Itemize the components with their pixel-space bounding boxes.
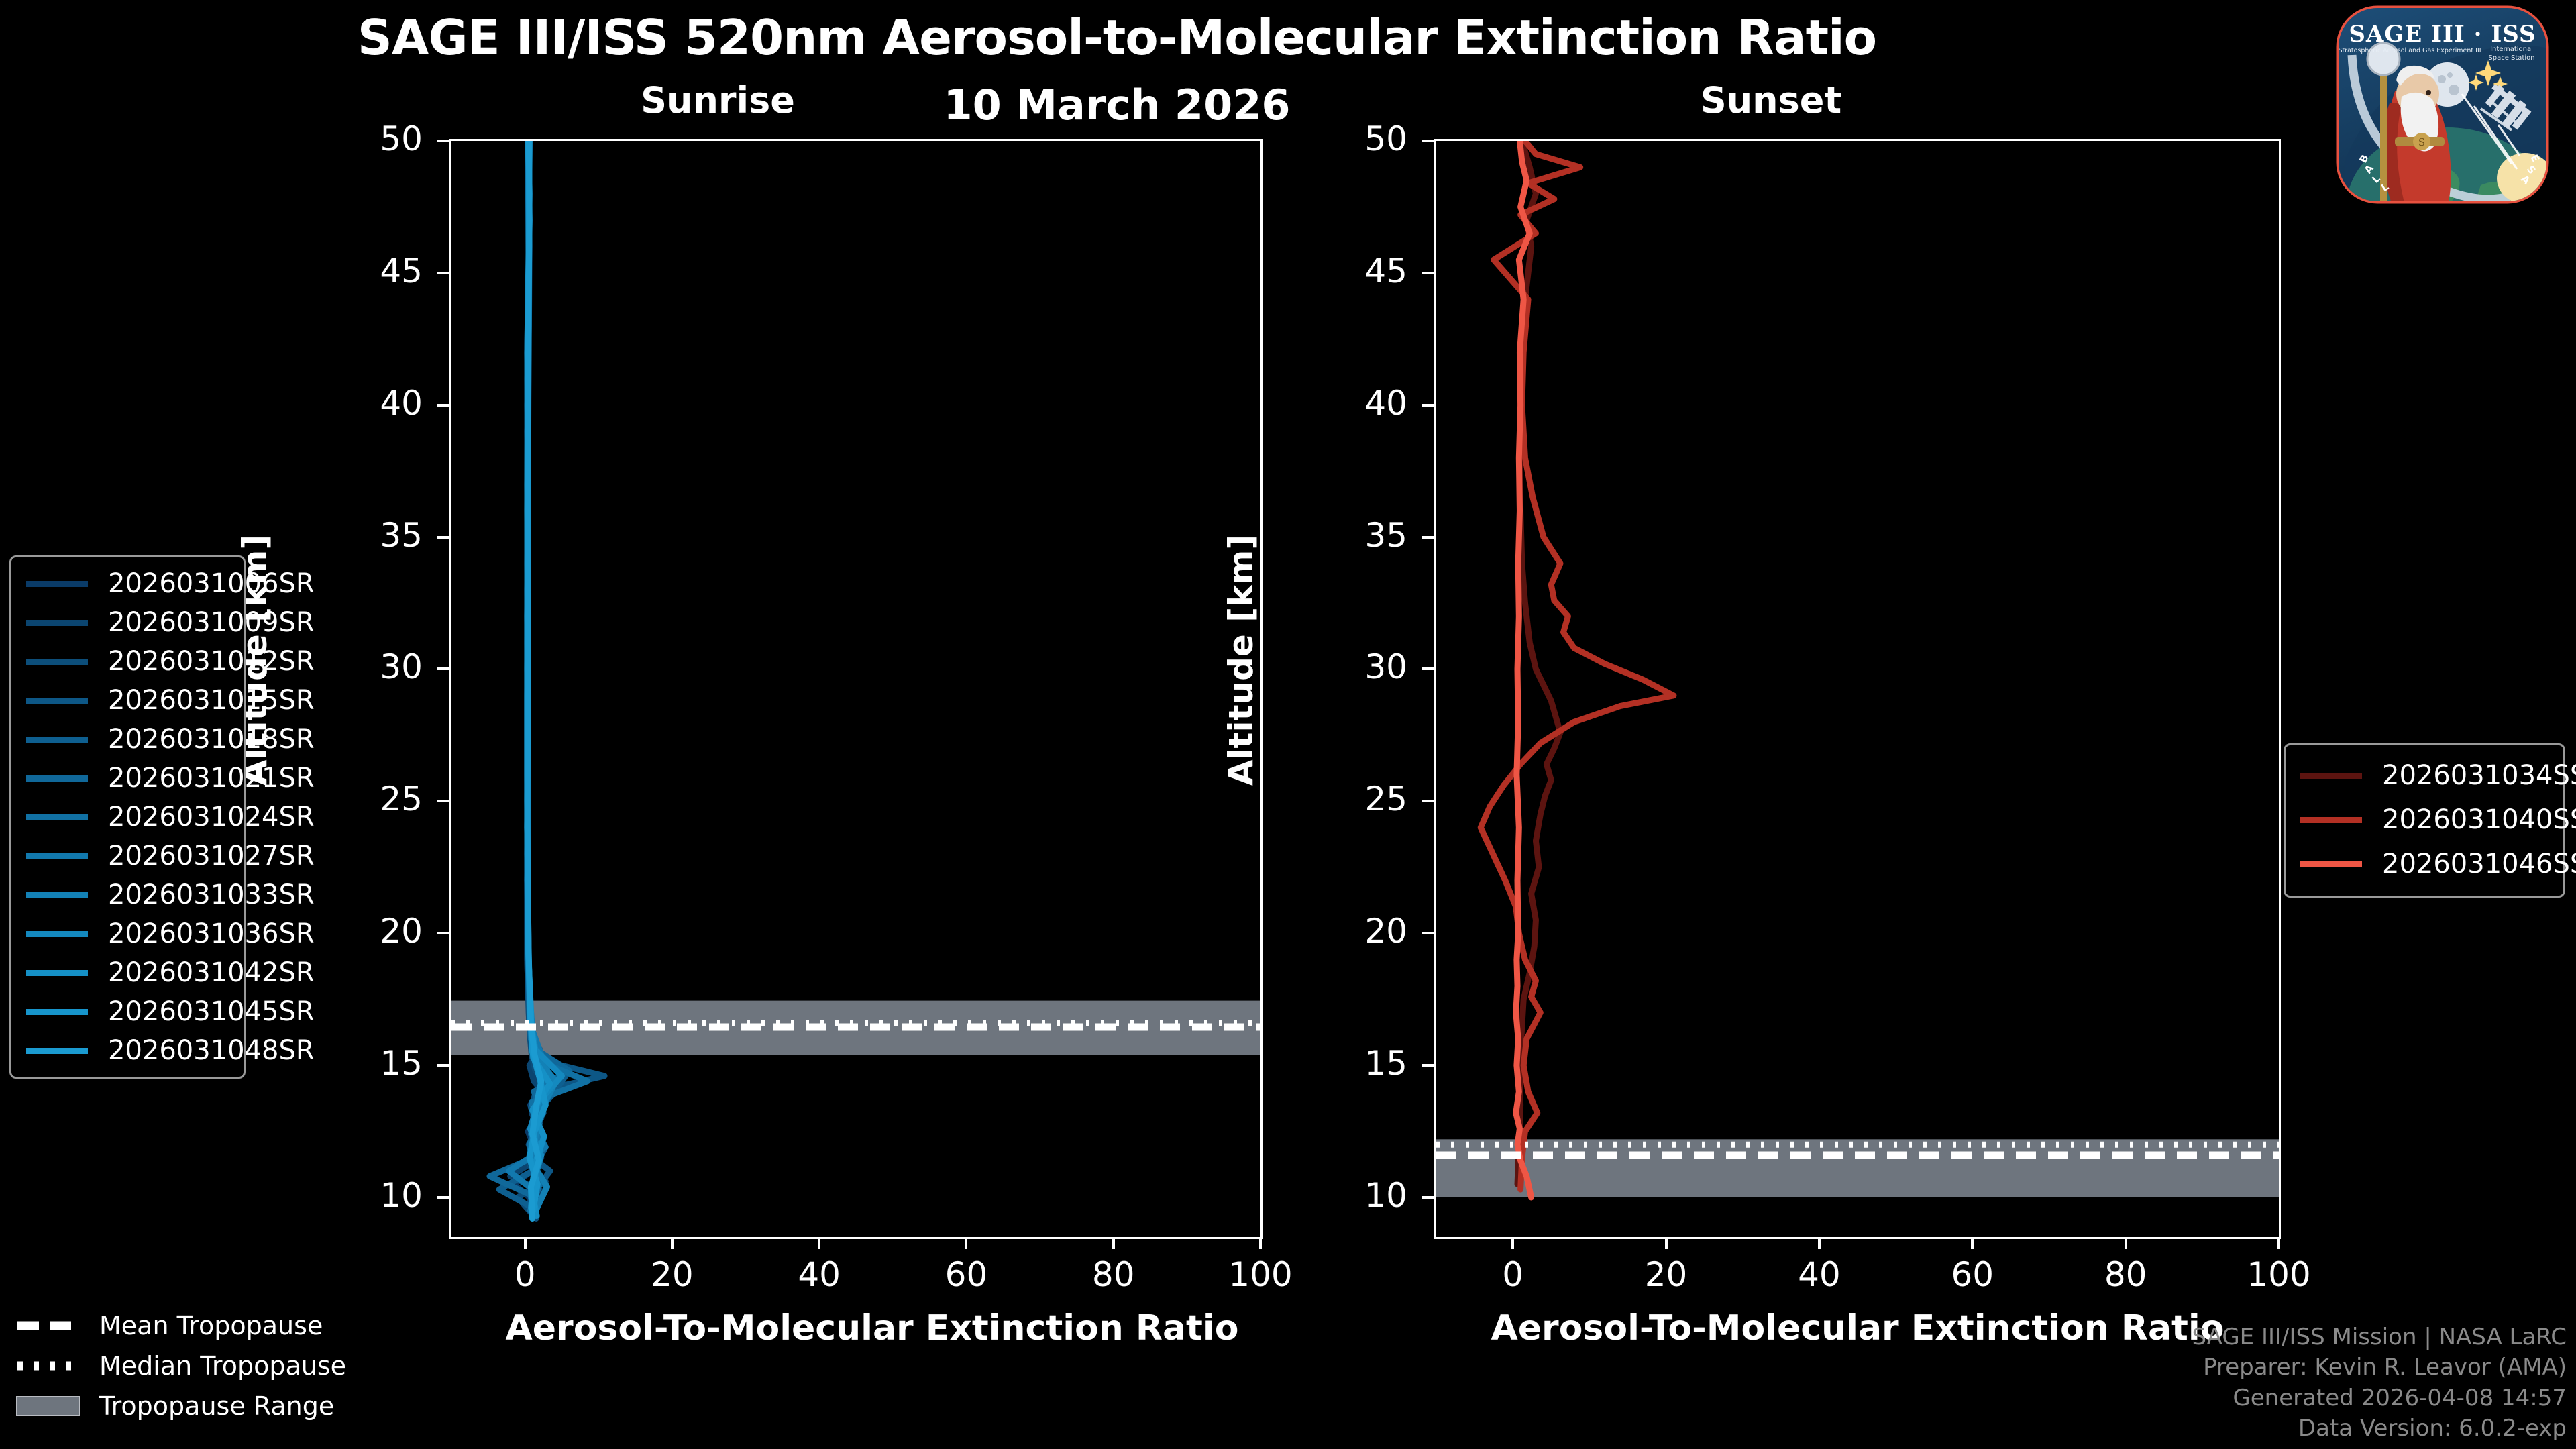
x-tick-label: 80 bbox=[1040, 1255, 1187, 1294]
y-tick-label: 50 bbox=[309, 119, 423, 158]
x-tick-mark bbox=[2125, 1237, 2127, 1249]
legend-item-sunrise[interactable]: 2026031036SR bbox=[26, 918, 315, 949]
y-tick-label: 35 bbox=[1293, 516, 1407, 555]
x-tick-label: 0 bbox=[451, 1255, 599, 1294]
legend-color-swatch bbox=[26, 970, 88, 976]
legend-item-label: 2026031018SR bbox=[108, 724, 315, 755]
x-tick-label: 20 bbox=[1593, 1255, 1740, 1294]
legend-item-sunrise[interactable]: 2026031042SR bbox=[26, 957, 315, 988]
credits-line: Data Version: 6.0.2-exp bbox=[2192, 1413, 2567, 1444]
y-tick-label: 50 bbox=[1293, 119, 1407, 158]
legend-item-label: 2026031006SR bbox=[108, 568, 315, 599]
y-tick-mark bbox=[437, 1064, 449, 1067]
x-tick-mark bbox=[524, 1237, 527, 1249]
y-tick-label: 20 bbox=[309, 912, 423, 951]
tropopause-legend-label: Mean Tropopause bbox=[99, 1311, 323, 1340]
series-line bbox=[1481, 141, 1674, 1189]
tropopause-legend-item: Median Tropopause bbox=[16, 1350, 346, 1382]
credits-block: SAGE III/ISS Mission | NASA LaRC Prepare… bbox=[2192, 1322, 2567, 1444]
legend-item-label: 2026031012SR bbox=[108, 646, 315, 677]
legend-item-sunrise[interactable]: 2026031048SR bbox=[26, 1035, 315, 1066]
x-axis-label-sunset: Aerosol-To-Molecular Extinction Ratio bbox=[1434, 1308, 2281, 1348]
y-tick-label: 15 bbox=[309, 1044, 423, 1083]
legend-item-sunset[interactable]: 2026031040SS bbox=[2300, 804, 2576, 835]
y-tick-mark bbox=[1422, 140, 1434, 142]
x-tick-label: 0 bbox=[1439, 1255, 1587, 1294]
y-tick-mark bbox=[437, 800, 449, 802]
plot-area-sunset bbox=[1434, 139, 2281, 1239]
legend-item-label: 2026031034SS bbox=[2382, 760, 2576, 791]
y-tick-label: 30 bbox=[309, 647, 423, 686]
x-tick-mark bbox=[1112, 1237, 1115, 1249]
legend-sunset[interactable]: 2026031034SS2026031040SS2026031046SS bbox=[2284, 743, 2565, 898]
y-tick-label: 45 bbox=[1293, 252, 1407, 290]
legend-item-sunrise[interactable]: 2026031018SR bbox=[26, 724, 315, 755]
legend-color-swatch bbox=[26, 698, 88, 704]
legend-item-sunrise[interactable]: 2026031045SR bbox=[26, 996, 315, 1027]
tropopause-legend-item: Mean Tropopause bbox=[16, 1309, 346, 1342]
y-tick-mark bbox=[437, 272, 449, 274]
credits-line: SAGE III/ISS Mission | NASA LaRC bbox=[2192, 1322, 2567, 1352]
legend-item-label: 2026031046SS bbox=[2382, 849, 2576, 879]
svg-text:S: S bbox=[2418, 136, 2425, 148]
legend-item-sunrise[interactable]: 2026031024SR bbox=[26, 802, 315, 833]
legend-item-sunrise[interactable]: 2026031027SR bbox=[26, 841, 315, 871]
legend-color-swatch bbox=[26, 1009, 88, 1015]
y-tick-label: 10 bbox=[1293, 1176, 1407, 1215]
legend-item-sunset[interactable]: 2026031034SS bbox=[2300, 760, 2576, 791]
x-tick-label: 40 bbox=[1746, 1255, 1893, 1294]
page-title: SAGE III/ISS 520nm Aerosol-to-Molecular … bbox=[0, 9, 2234, 66]
y-tick-mark bbox=[437, 140, 449, 142]
x-tick-label: 100 bbox=[1187, 1255, 1334, 1294]
panel-heading-sunset: Sunset bbox=[1637, 79, 1905, 121]
y-tick-label: 30 bbox=[1293, 647, 1407, 686]
x-tick-label: 60 bbox=[1898, 1255, 2046, 1294]
y-tick-mark bbox=[1422, 667, 1434, 670]
plot-area-sunrise bbox=[449, 139, 1263, 1239]
x-tick-label: 20 bbox=[598, 1255, 746, 1294]
x-tick-label: 100 bbox=[2205, 1255, 2353, 1294]
tropopause-legend-label: Tropopause Range bbox=[99, 1391, 334, 1421]
legend-item-label: 2026031021SR bbox=[108, 763, 315, 794]
legend-color-swatch bbox=[26, 659, 88, 665]
x-tick-label: 40 bbox=[745, 1255, 893, 1294]
y-tick-label: 20 bbox=[1293, 912, 1407, 951]
credits-line: Generated 2026-04-08 14:57 bbox=[2192, 1383, 2567, 1413]
y-tick-mark bbox=[437, 404, 449, 407]
credits-line: Preparer: Kevin R. Leavor (AMA) bbox=[2192, 1352, 2567, 1383]
y-tick-mark bbox=[1422, 1196, 1434, 1199]
legend-item-label: 2026031027SR bbox=[108, 841, 315, 871]
mean-tropopause-swatch bbox=[16, 1318, 80, 1333]
x-tick-mark bbox=[671, 1237, 674, 1249]
panel-heading-sunrise: Sunrise bbox=[584, 79, 852, 121]
x-axis-label-sunrise: Aerosol-To-Molecular Extinction Ratio bbox=[449, 1308, 1295, 1348]
x-tick-mark bbox=[818, 1237, 820, 1249]
tropopause-legend: Mean TropopauseMedian TropopauseTropopau… bbox=[16, 1309, 346, 1430]
x-tick-mark bbox=[1818, 1237, 1821, 1249]
y-tick-mark bbox=[1422, 1064, 1434, 1067]
tropopause-range-band bbox=[1436, 1139, 2279, 1197]
tropopause-legend-label: Median Tropopause bbox=[99, 1351, 346, 1381]
y-tick-label: 40 bbox=[309, 384, 423, 423]
x-tick-label: 80 bbox=[2052, 1255, 2200, 1294]
y-tick-label: 10 bbox=[309, 1176, 423, 1215]
legend-item-sunrise[interactable]: 2026031021SR bbox=[26, 763, 315, 794]
badge-title: SAGE III · ISS bbox=[2349, 21, 2536, 48]
y-axis-label-sunset: Altitude [km] bbox=[1222, 506, 1260, 814]
legend-item-sunrise[interactable]: 2026031009SR bbox=[26, 607, 315, 638]
y-tick-label: 25 bbox=[1293, 780, 1407, 818]
legend-item-label: 2026031042SR bbox=[108, 957, 315, 988]
y-tick-mark bbox=[437, 536, 449, 539]
legend-color-swatch bbox=[26, 853, 88, 859]
sage-iii-iss-mission-patch: S SAGE III · ISS Stratospheric Aerosol a… bbox=[2316, 5, 2569, 204]
legend-item-sunrise[interactable]: 2026031006SR bbox=[26, 568, 315, 599]
x-tick-mark bbox=[1971, 1237, 1974, 1249]
legend-item-sunrise[interactable]: 2026031033SR bbox=[26, 879, 315, 910]
legend-item-label: 2026031040SS bbox=[2382, 804, 2576, 835]
median-tropopause-swatch bbox=[16, 1358, 80, 1373]
y-tick-label: 45 bbox=[309, 252, 423, 290]
legend-item-sunset[interactable]: 2026031046SS bbox=[2300, 849, 2576, 879]
y-tick-label: 35 bbox=[309, 516, 423, 555]
y-tick-label: 40 bbox=[1293, 384, 1407, 423]
legend-color-swatch bbox=[26, 931, 88, 937]
legend-item-label: 2026031015SR bbox=[108, 685, 315, 716]
y-tick-mark bbox=[1422, 800, 1434, 802]
legend-color-swatch bbox=[2300, 861, 2362, 867]
legend-color-swatch bbox=[2300, 773, 2362, 779]
legend-item-sunrise[interactable]: 2026031015SR bbox=[26, 685, 315, 716]
x-tick-mark bbox=[965, 1237, 967, 1249]
y-tick-mark bbox=[1422, 932, 1434, 934]
legend-color-swatch bbox=[2300, 817, 2362, 823]
x-tick-mark bbox=[1665, 1237, 1668, 1249]
badge-subtitle-left: Stratospheric Aerosol and Gas Experiment… bbox=[2338, 47, 2481, 54]
legend-color-swatch bbox=[26, 581, 88, 587]
legend-color-swatch bbox=[26, 1048, 88, 1054]
legend-color-swatch bbox=[26, 814, 88, 820]
legend-sunrise[interactable]: 2026031006SR2026031009SR2026031012SR2026… bbox=[9, 555, 246, 1079]
x-tick-mark bbox=[2277, 1237, 2280, 1249]
y-tick-mark bbox=[1422, 536, 1434, 539]
y-tick-mark bbox=[1422, 404, 1434, 407]
x-tick-mark bbox=[1259, 1237, 1262, 1249]
y-tick-mark bbox=[437, 932, 449, 934]
legend-color-swatch bbox=[26, 737, 88, 743]
badge-subtitle-right: International bbox=[2490, 46, 2533, 53]
legend-color-swatch bbox=[26, 892, 88, 898]
legend-item-label: 2026031009SR bbox=[108, 607, 315, 638]
legend-item-label: 2026031045SR bbox=[108, 996, 315, 1027]
tropopause-range-swatch bbox=[16, 1396, 80, 1416]
svg-text:Space Station: Space Station bbox=[2488, 54, 2534, 62]
legend-item-label: 2026031048SR bbox=[108, 1035, 315, 1066]
x-tick-label: 60 bbox=[892, 1255, 1040, 1294]
y-tick-mark bbox=[437, 1196, 449, 1199]
y-tick-mark bbox=[437, 667, 449, 670]
legend-item-label: 2026031024SR bbox=[108, 802, 315, 833]
legend-item-label: 2026031036SR bbox=[108, 918, 315, 949]
y-tick-label: 25 bbox=[309, 780, 423, 818]
tropopause-legend-item: Tropopause Range bbox=[16, 1390, 346, 1422]
legend-color-swatch bbox=[26, 620, 88, 626]
legend-item-sunrise[interactable]: 2026031012SR bbox=[26, 646, 315, 677]
x-tick-mark bbox=[1511, 1237, 1514, 1249]
legend-item-label: 2026031033SR bbox=[108, 879, 315, 910]
y-tick-mark bbox=[1422, 272, 1434, 274]
legend-color-swatch bbox=[26, 775, 88, 782]
y-tick-label: 15 bbox=[1293, 1044, 1407, 1083]
